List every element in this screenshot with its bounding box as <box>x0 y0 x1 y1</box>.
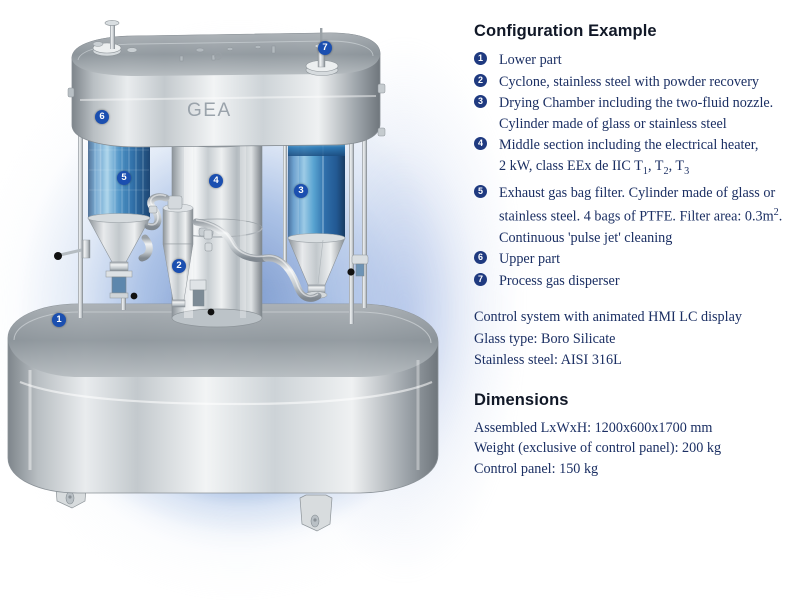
list-item: 4 Middle section including the electrica… <box>474 135 794 182</box>
item-text: Lower part <box>499 50 794 71</box>
list-item: 6 Upper part <box>474 249 794 270</box>
notes-block: Control system with animated HMI LC disp… <box>474 307 794 371</box>
callout-4: 4 <box>209 174 223 188</box>
dimension-line: Weight (exclusive of control panel): 200… <box>474 438 794 459</box>
callout-1: 1 <box>52 313 66 327</box>
item-text-cont: 2 kW, class EEx de IIC T1, T2, T3 <box>499 156 794 182</box>
callout-5: 5 <box>117 171 131 185</box>
note-line: Stainless steel: AISI 316L <box>474 350 794 371</box>
item-badge-1: 1 <box>474 52 487 65</box>
callout-3: 3 <box>294 184 308 198</box>
note-line: Control system with animated HMI LC disp… <box>474 307 794 328</box>
spray-dryer-illustration: GEA 1 2 3 4 5 6 7 <box>0 0 470 606</box>
item-text: Upper part <box>499 249 794 270</box>
lower-part-base <box>8 304 438 531</box>
exhaust-bag-filter <box>54 130 150 299</box>
dimension-line: Control panel: 150 kg <box>474 459 794 480</box>
item-text-cont: Cylinder made of glass or stainless stee… <box>499 114 794 135</box>
item-text: Cyclone, stainless steel with powder rec… <box>499 72 794 93</box>
callout-6: 6 <box>95 110 109 124</box>
dimension-line: Assembled LxWxH: 1200x600x1700 mm <box>474 418 794 439</box>
specs-panel: Configuration Example 1 Lower part 2 Cyc… <box>474 22 794 479</box>
item-text: Exhaust gas bag filter. Cylinder made of… <box>499 183 794 204</box>
drying-chamber <box>288 142 345 299</box>
list-item: 2 Cyclone, stainless steel with powder r… <box>474 72 794 93</box>
list-item: 5 Exhaust gas bag filter. Cylinder made … <box>474 183 794 248</box>
item-text-cont: Continuous 'pulse jet' cleaning <box>499 228 794 249</box>
callout-7: 7 <box>318 41 332 55</box>
item-text: Drying Chamber including the two-fluid n… <box>499 93 794 114</box>
note-line: Glass type: Boro Silicate <box>474 329 794 350</box>
item-badge-4: 4 <box>474 137 487 150</box>
dimensions-heading: Dimensions <box>474 391 794 410</box>
list-item: 1 Lower part <box>474 50 794 71</box>
item-badge-3: 3 <box>474 95 487 108</box>
dimensions-block: Assembled LxWxH: 1200x600x1700 mm Weight… <box>474 418 794 480</box>
item-badge-5: 5 <box>474 185 487 198</box>
item-text-cont: stainless steel. 4 bags of PTFE. Filter … <box>499 203 794 227</box>
item-text: Middle section including the electrical … <box>499 135 794 156</box>
item-badge-2: 2 <box>474 74 487 87</box>
item-text: Process gas disperser <box>499 271 794 292</box>
spray-dryer-svg <box>0 0 470 606</box>
config-heading: Configuration Example <box>474 22 794 41</box>
upper-part-header <box>68 20 385 147</box>
callout-2: 2 <box>172 259 186 273</box>
page-root: GEA 1 2 3 4 5 6 7 Configuration Example … <box>0 0 800 606</box>
list-item: 3 Drying Chamber including the two-fluid… <box>474 93 794 134</box>
list-item: 7 Process gas disperser <box>474 271 794 292</box>
gea-logo: GEA <box>187 100 232 122</box>
item-badge-6: 6 <box>474 251 487 264</box>
item-badge-7: 7 <box>474 273 487 286</box>
config-item-list: 1 Lower part 2 Cyclone, stainless steel … <box>474 50 794 291</box>
